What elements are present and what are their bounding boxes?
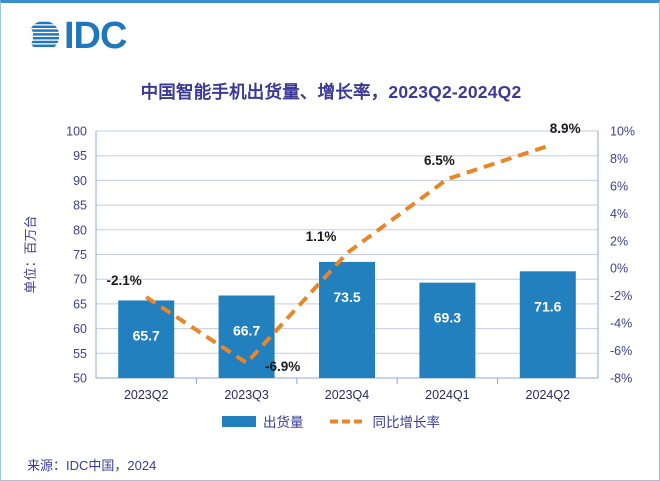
x-axis-category-label: 2023Q3 xyxy=(224,388,269,402)
x-axis-category-label: 2023Q4 xyxy=(325,388,370,402)
y-axis-unit-label: 单位：百万台 xyxy=(23,215,38,293)
y-axis-tick-label: 70 xyxy=(73,273,87,287)
legend-item-growth-rate[interactable]: 同比增长率 xyxy=(330,411,441,431)
growth-rate-label: -6.9% xyxy=(265,359,300,374)
y-axis-tick-label: 95 xyxy=(73,149,87,163)
bar-value-label: 65.7 xyxy=(133,327,160,343)
y-axis-right-labels: 10%8%6%4%2%0%-2%-4%-6%-8% xyxy=(610,125,635,386)
bar-value-label: 71.6 xyxy=(534,298,561,314)
y-axis-tick-label: 100 xyxy=(66,125,87,139)
growth-rate-label: -2.1% xyxy=(107,273,142,288)
y-axis-tick-label: 55 xyxy=(73,347,87,361)
legend-label-shipments: 出货量 xyxy=(263,411,304,431)
y2-axis-tick-label: 4% xyxy=(610,207,628,221)
x-axis-category-label: 2023Q2 xyxy=(124,388,169,402)
chart-legend: 出货量 同比增长率 xyxy=(1,411,660,431)
y2-axis-tick-label: 8% xyxy=(610,152,628,166)
bar-value-label: 69.3 xyxy=(434,310,461,326)
bar[interactable] xyxy=(419,283,475,378)
bar[interactable] xyxy=(520,271,576,378)
combo-chart-svg: 10095908580757065605550 10%8%6%4%2%0%-2%… xyxy=(1,115,660,405)
y2-axis-tick-label: -8% xyxy=(610,372,632,386)
bar-value-label: 66.7 xyxy=(233,323,260,339)
y-axis-tick-label: 50 xyxy=(73,372,87,386)
y2-axis-tick-label: 6% xyxy=(610,179,628,193)
y2-axis-tick-label: 2% xyxy=(610,234,628,248)
page-title: 中国智能手机出货量、增长率，2023Q2-2024Q2 xyxy=(1,79,660,104)
y-axis-tick-label: 65 xyxy=(73,297,87,311)
bar-value-label: 73.5 xyxy=(333,289,360,305)
y-axis-tick-label: 90 xyxy=(73,174,87,188)
y-axis-tick-label: 60 xyxy=(73,322,87,336)
x-axis-category-label: 2024Q1 xyxy=(425,388,470,402)
y-axis-left-labels: 10095908580757065605550 xyxy=(66,125,87,386)
legend-line-swatch xyxy=(330,416,366,427)
idc-logo-text: IDC xyxy=(64,17,126,55)
y2-axis-tick-label: 0% xyxy=(610,262,628,276)
source-note: 来源：IDC中国，2024 xyxy=(27,455,156,474)
growth-rate-label: 6.5% xyxy=(424,153,455,168)
y-axis-unit-label: 单位：百万台 xyxy=(23,215,38,293)
growth-rate-label: 8.9% xyxy=(550,121,581,136)
y-axis-tick-label: 75 xyxy=(73,248,87,262)
chart-plot-area: 10095908580757065605550 10%8%6%4%2%0%-2%… xyxy=(1,115,660,405)
idc-logo: IDC xyxy=(25,15,165,57)
x-axis-category-label: 2024Q2 xyxy=(526,388,571,402)
x-axis-category-labels: 2023Q22023Q32023Q42024Q12024Q2 xyxy=(124,388,570,402)
y2-axis-tick-label: 10% xyxy=(610,125,635,139)
growth-rate-label: 1.1% xyxy=(306,229,337,244)
bar[interactable] xyxy=(319,262,375,378)
y-axis-tick-label: 80 xyxy=(73,223,87,237)
legend-item-shipments[interactable]: 出货量 xyxy=(222,411,304,431)
chart-card: IDC 中国智能手机出货量、增长率，2023Q2-2024Q2 10095908… xyxy=(0,0,660,481)
y2-axis-tick-label: -2% xyxy=(610,289,632,303)
globe-icon xyxy=(25,17,63,55)
y2-axis-tick-label: -4% xyxy=(610,317,632,331)
y2-axis-tick-label: -6% xyxy=(610,344,632,358)
legend-label-growth-rate: 同比增长率 xyxy=(373,411,441,431)
legend-bar-swatch xyxy=(222,416,256,427)
y-axis-tick-label: 85 xyxy=(73,199,87,213)
